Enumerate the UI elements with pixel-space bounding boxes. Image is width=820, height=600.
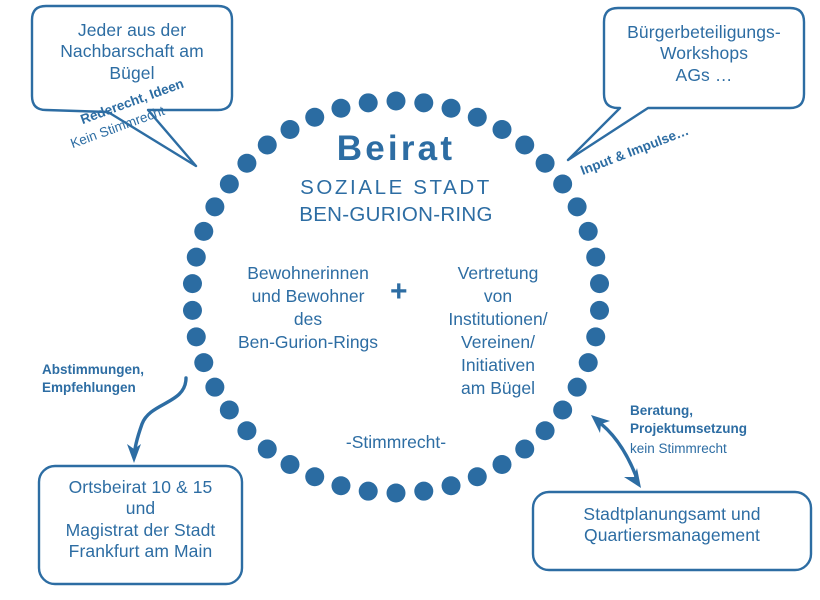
ring-dot xyxy=(586,248,605,267)
bubble-top-right-text: Bürgerbeteiligungs- Workshops AGs … xyxy=(606,22,802,86)
ring-dot xyxy=(515,440,534,459)
ring-dot xyxy=(237,421,256,440)
ring-dot xyxy=(194,353,213,372)
ring-dot xyxy=(359,93,378,112)
ring-dot xyxy=(220,401,239,420)
ring-dot xyxy=(414,93,433,112)
ring-dot xyxy=(590,301,609,320)
bubble-top-left-text: Jeder aus der Nachbarschaft am Bügel xyxy=(34,20,230,84)
plus-icon: + xyxy=(390,277,408,307)
ring-dot xyxy=(579,353,598,372)
ring-dot xyxy=(553,174,572,193)
ring-dot xyxy=(586,327,605,346)
ring-dot xyxy=(183,301,202,320)
ring-dot xyxy=(205,197,224,216)
ring-dot xyxy=(414,482,433,501)
ring-dot xyxy=(493,455,512,474)
ring-dot xyxy=(305,108,324,127)
label-beratung-projektumsetzung: Beratung, Projektumsetzung xyxy=(630,402,800,437)
box-bottom-right-text: Stadtplanungsamt und Quartiersmanagement xyxy=(534,504,810,547)
ring-dot xyxy=(579,222,598,241)
ring-dot xyxy=(536,154,555,173)
members-residents-text: Bewohnerinnen und Bewohner des Ben-Gurio… xyxy=(222,262,394,354)
ring-dot xyxy=(442,99,461,118)
ring-dot xyxy=(442,476,461,495)
ring-dot xyxy=(590,274,609,293)
diagram-canvas: Jeder aus der Nachbarschaft am Bügel Red… xyxy=(0,0,820,600)
ring-dot xyxy=(331,99,350,118)
ring-dot xyxy=(258,135,277,154)
ring-dot xyxy=(205,378,224,397)
ring-dot xyxy=(281,455,300,474)
ring-dot xyxy=(187,327,206,346)
ring-dot xyxy=(515,135,534,154)
ring-dot xyxy=(237,154,256,173)
ring-dot xyxy=(468,467,487,486)
page-title: Beirat xyxy=(276,128,516,171)
label-abstimmungen-empfehlungen: Abstimmungen, Empfehlungen xyxy=(42,361,188,396)
label-kein-stimmrecht-right: kein Stimmrecht xyxy=(630,440,800,458)
ring-dot xyxy=(258,440,277,459)
ring-dot xyxy=(553,401,572,420)
page-subtitle-program: SOZIALE STADT xyxy=(266,175,526,200)
voting-rights-note: -Stimmrecht- xyxy=(306,432,486,453)
ring-dot xyxy=(468,108,487,127)
box-bottom-left-text: Ortsbeirat 10 & 15 und Magistrat der Sta… xyxy=(40,477,241,562)
ring-dot xyxy=(194,222,213,241)
ring-dot xyxy=(183,274,202,293)
ring-dot xyxy=(305,467,324,486)
ring-dot xyxy=(536,421,555,440)
ring-dot xyxy=(187,248,206,267)
ring-dot xyxy=(359,482,378,501)
ring-dot xyxy=(331,476,350,495)
ring-dot xyxy=(568,197,587,216)
members-institutions-text: Vertretung von Institutionen/ Vereinen/ … xyxy=(418,262,578,401)
ring-dot xyxy=(387,92,406,111)
ring-dot xyxy=(220,174,239,193)
page-subtitle-location: BEN-GURION-RING xyxy=(266,202,526,227)
ring-dot xyxy=(387,484,406,503)
